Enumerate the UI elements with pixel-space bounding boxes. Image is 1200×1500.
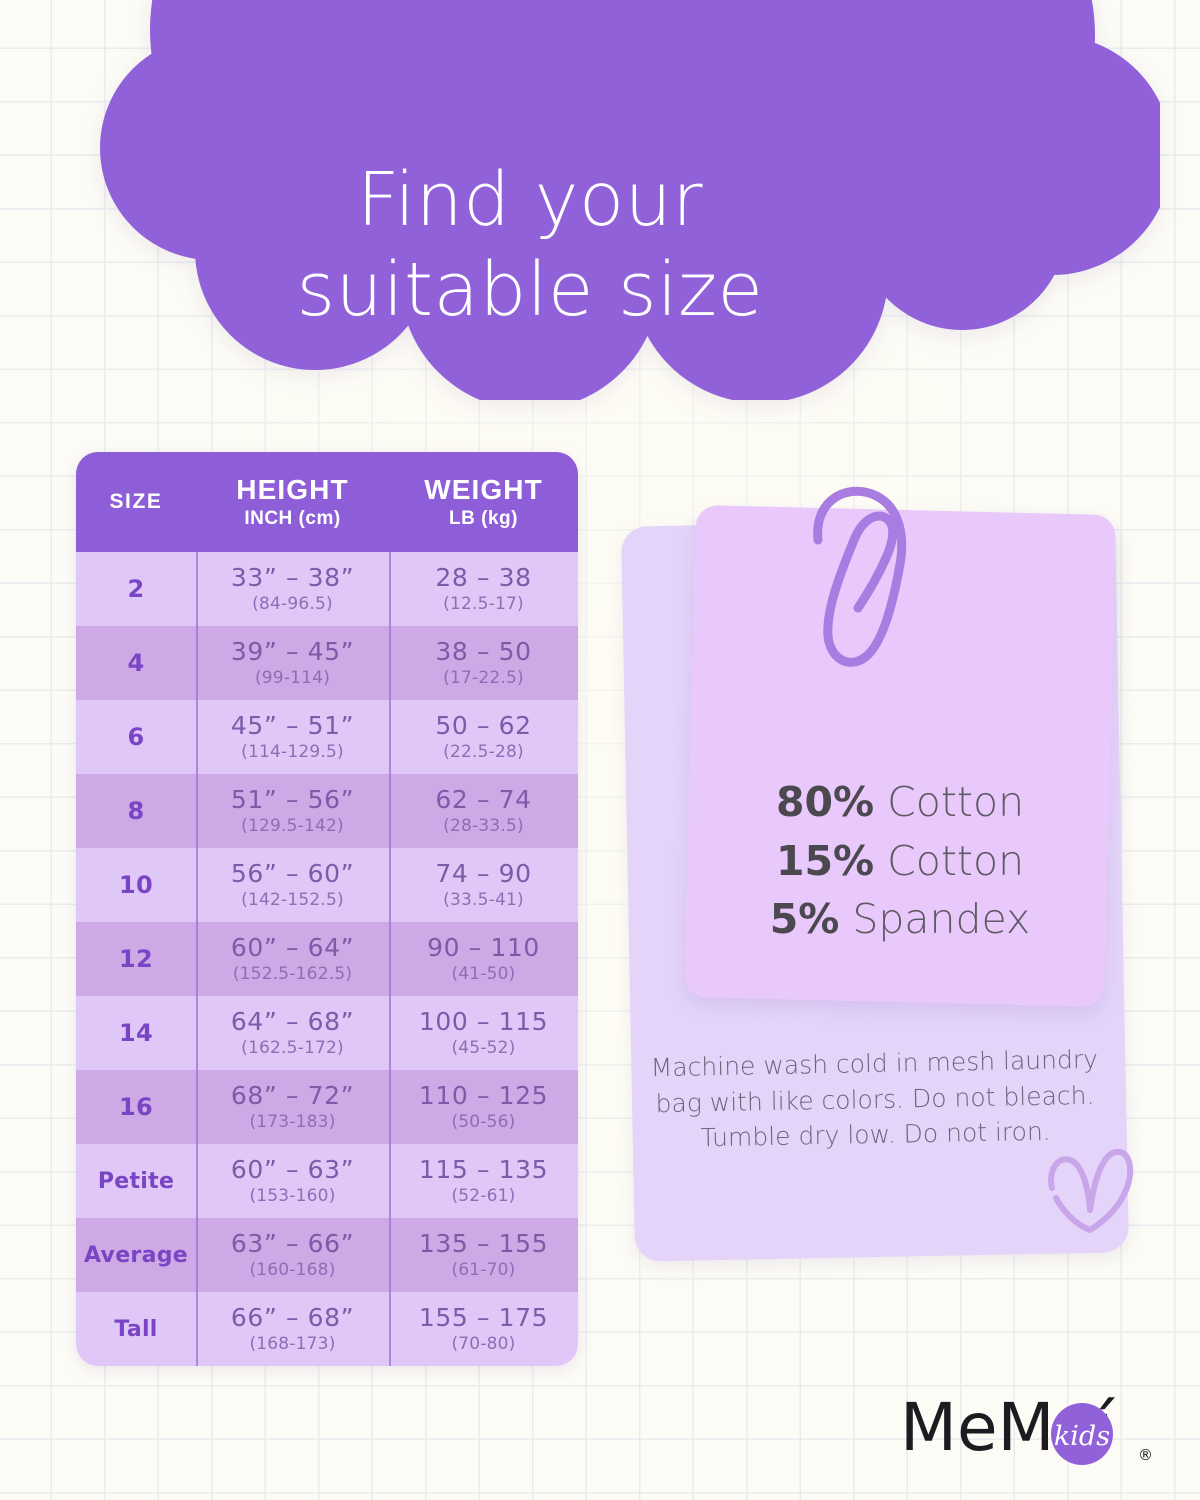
weight-lb: 62 – 74 [435,786,531,814]
size-label: 12 [119,945,153,973]
composition-line: 15% Cotton [776,832,1024,890]
table-header-row: SIZE HEIGHT INCH (cm) WEIGHT LB (kg) [76,452,578,552]
column-header-size: SIZE [76,452,196,552]
composition-percent: 5% [770,895,840,943]
height-inches: 64” – 68” [231,1008,354,1036]
height-inches: 39” – 45” [231,638,354,666]
height-cm: (84-96.5) [252,594,333,614]
cell-size: 6 [76,700,196,774]
height-inches: 66” – 68” [231,1304,354,1332]
table-row: 1260” – 64”(152.5-162.5)90 – 110(41-50) [76,922,578,996]
table-body: 233” – 38”(84-96.5)28 – 38(12.5-17)439” … [76,552,578,1366]
weight-lb: 100 – 115 [419,1008,548,1036]
column-divider-2 [389,552,391,1366]
weight-kg: (22.5-28) [443,742,524,762]
weight-lb: 110 – 125 [419,1082,548,1110]
table-row: 1056” – 60”(142-152.5)74 – 90(33.5-41) [76,848,578,922]
cell-weight: 110 – 125(50-56) [389,1070,578,1144]
composition-material: Cotton [887,778,1024,826]
cell-weight: 115 – 135(52-61) [389,1144,578,1218]
cell-size: 8 [76,774,196,848]
height-cm: (162.5-172) [241,1038,344,1058]
cell-weight: 50 – 62(22.5-28) [389,700,578,774]
table-row: 851” – 56”(129.5-142)62 – 74(28-33.5) [76,774,578,848]
composition-percent: 80% [776,778,874,826]
paperclip-icon [800,478,920,678]
brand-logo: MeMoí kids ® [900,1388,1152,1474]
cell-size: Petite [76,1144,196,1218]
height-inches: 60” – 63” [231,1156,354,1184]
cloud-header-shape [100,0,1160,400]
cell-size: 4 [76,626,196,700]
cell-height: 60” – 63”(153-160) [196,1144,389,1218]
cell-height: 63” – 66”(160-168) [196,1218,389,1292]
cell-size: 16 [76,1070,196,1144]
composition-material: Cotton [887,837,1024,885]
logo-trademark: ® [1138,1446,1152,1464]
cell-height: 66” – 68”(168-173) [196,1292,389,1366]
cell-size: 10 [76,848,196,922]
cell-size: 2 [76,552,196,626]
cell-weight: 74 – 90(33.5-41) [389,848,578,922]
height-cm: (160-168) [249,1260,335,1280]
cell-height: 39” – 45”(99-114) [196,626,389,700]
cell-height: 56” – 60”(142-152.5) [196,848,389,922]
size-label: 6 [128,723,145,751]
weight-kg: (50-56) [451,1112,515,1132]
weight-lb: 74 – 90 [435,860,531,888]
size-chart-page: Find your suitable size SIZE HEIGHT INCH… [0,0,1200,1500]
weight-kg: (52-61) [451,1186,515,1206]
table-row: 233” – 38”(84-96.5)28 – 38(12.5-17) [76,552,578,626]
cell-weight: 28 – 38(12.5-17) [389,552,578,626]
weight-kg: (33.5-41) [443,890,524,910]
height-cm: (153-160) [249,1186,335,1206]
cell-size: 14 [76,996,196,1070]
size-label: Petite [98,1169,174,1194]
size-label: Tall [114,1317,157,1342]
weight-lb: 135 – 155 [419,1230,548,1258]
height-inches: 56” – 60” [231,860,354,888]
size-label: Average [84,1243,188,1268]
height-cm: (142-152.5) [241,890,344,910]
logo-kids-text: kids [1054,1421,1110,1452]
height-cm: (114-129.5) [241,742,344,762]
table-row: 1464” – 68”(162.5-172)100 – 115(45-52) [76,996,578,1070]
weight-kg: (70-80) [451,1334,515,1354]
column-header-height: HEIGHT INCH (cm) [196,452,389,552]
table-row: Petite60” – 63”(153-160)115 – 135(52-61) [76,1144,578,1218]
height-inches: 68” – 72” [231,1082,354,1110]
height-cm: (168-173) [249,1334,335,1354]
height-cm: (152.5-162.5) [233,964,352,984]
weight-lb: 28 – 38 [435,564,531,592]
weight-lb: 90 – 110 [427,934,540,962]
cell-height: 68” – 72”(173-183) [196,1070,389,1144]
height-inches: 60” – 64” [231,934,354,962]
cell-weight: 90 – 110(41-50) [389,922,578,996]
size-chart-table: SIZE HEIGHT INCH (cm) WEIGHT LB (kg) 233… [76,452,578,1366]
cell-size: Tall [76,1292,196,1366]
composition-line: 80% Cotton [776,773,1024,831]
cell-height: 64” – 68”(162.5-172) [196,996,389,1070]
care-instructions-text: Machine wash cold in mesh laundry bag wi… [639,1041,1111,1157]
cell-size: 12 [76,922,196,996]
cell-height: 45” – 51”(114-129.5) [196,700,389,774]
weight-kg: (12.5-17) [443,594,524,614]
height-inches: 33” – 38” [231,564,354,592]
table-row: 439” – 45”(99-114)38 – 50(17-22.5) [76,626,578,700]
size-label: 8 [128,797,145,825]
weight-kg: (41-50) [451,964,515,984]
weight-lb: 115 – 135 [419,1156,548,1184]
weight-lb: 50 – 62 [435,712,531,740]
height-inches: 45” – 51” [231,712,354,740]
cell-weight: 135 – 155(61-70) [389,1218,578,1292]
cell-height: 60” – 64”(152.5-162.5) [196,922,389,996]
heart-doodle-icon [1046,1146,1138,1242]
cell-weight: 38 – 50(17-22.5) [389,626,578,700]
cell-weight: 62 – 74(28-33.5) [389,774,578,848]
cell-height: 51” – 56”(129.5-142) [196,774,389,848]
weight-kg: (61-70) [451,1260,515,1280]
weight-lb: 38 – 50 [435,638,531,666]
height-inches: 51” – 56” [231,786,354,814]
table-row: 645” – 51”(114-129.5)50 – 62(22.5-28) [76,700,578,774]
height-inches: 63” – 66” [231,1230,354,1258]
column-header-weight: WEIGHT LB (kg) [389,452,578,552]
weight-kg: (17-22.5) [443,668,524,688]
cell-weight: 155 – 175(70-80) [389,1292,578,1366]
weight-kg: (28-33.5) [443,816,524,836]
composition-line: 5% Spandex [770,890,1031,948]
size-label: 2 [128,575,145,603]
height-cm: (129.5-142) [241,816,344,836]
table-row: 1668” – 72”(173-183)110 – 125(50-56) [76,1070,578,1144]
size-label: 14 [119,1019,153,1047]
cell-weight: 100 – 115(45-52) [389,996,578,1070]
height-cm: (173-183) [249,1112,335,1132]
weight-kg: (45-52) [451,1038,515,1058]
table-row: Average63” – 66”(160-168)135 – 155(61-70… [76,1218,578,1292]
table-row: Tall66” – 68”(168-173)155 – 175(70-80) [76,1292,578,1366]
column-divider-1 [196,552,198,1366]
size-label: 16 [119,1093,153,1121]
composition-percent: 15% [776,837,874,885]
height-cm: (99-114) [255,668,330,688]
cell-size: Average [76,1218,196,1292]
cell-height: 33” – 38”(84-96.5) [196,552,389,626]
size-label: 10 [119,871,153,899]
composition-material: Spandex [852,895,1030,943]
size-label: 4 [128,649,145,677]
weight-lb: 155 – 175 [419,1304,548,1332]
